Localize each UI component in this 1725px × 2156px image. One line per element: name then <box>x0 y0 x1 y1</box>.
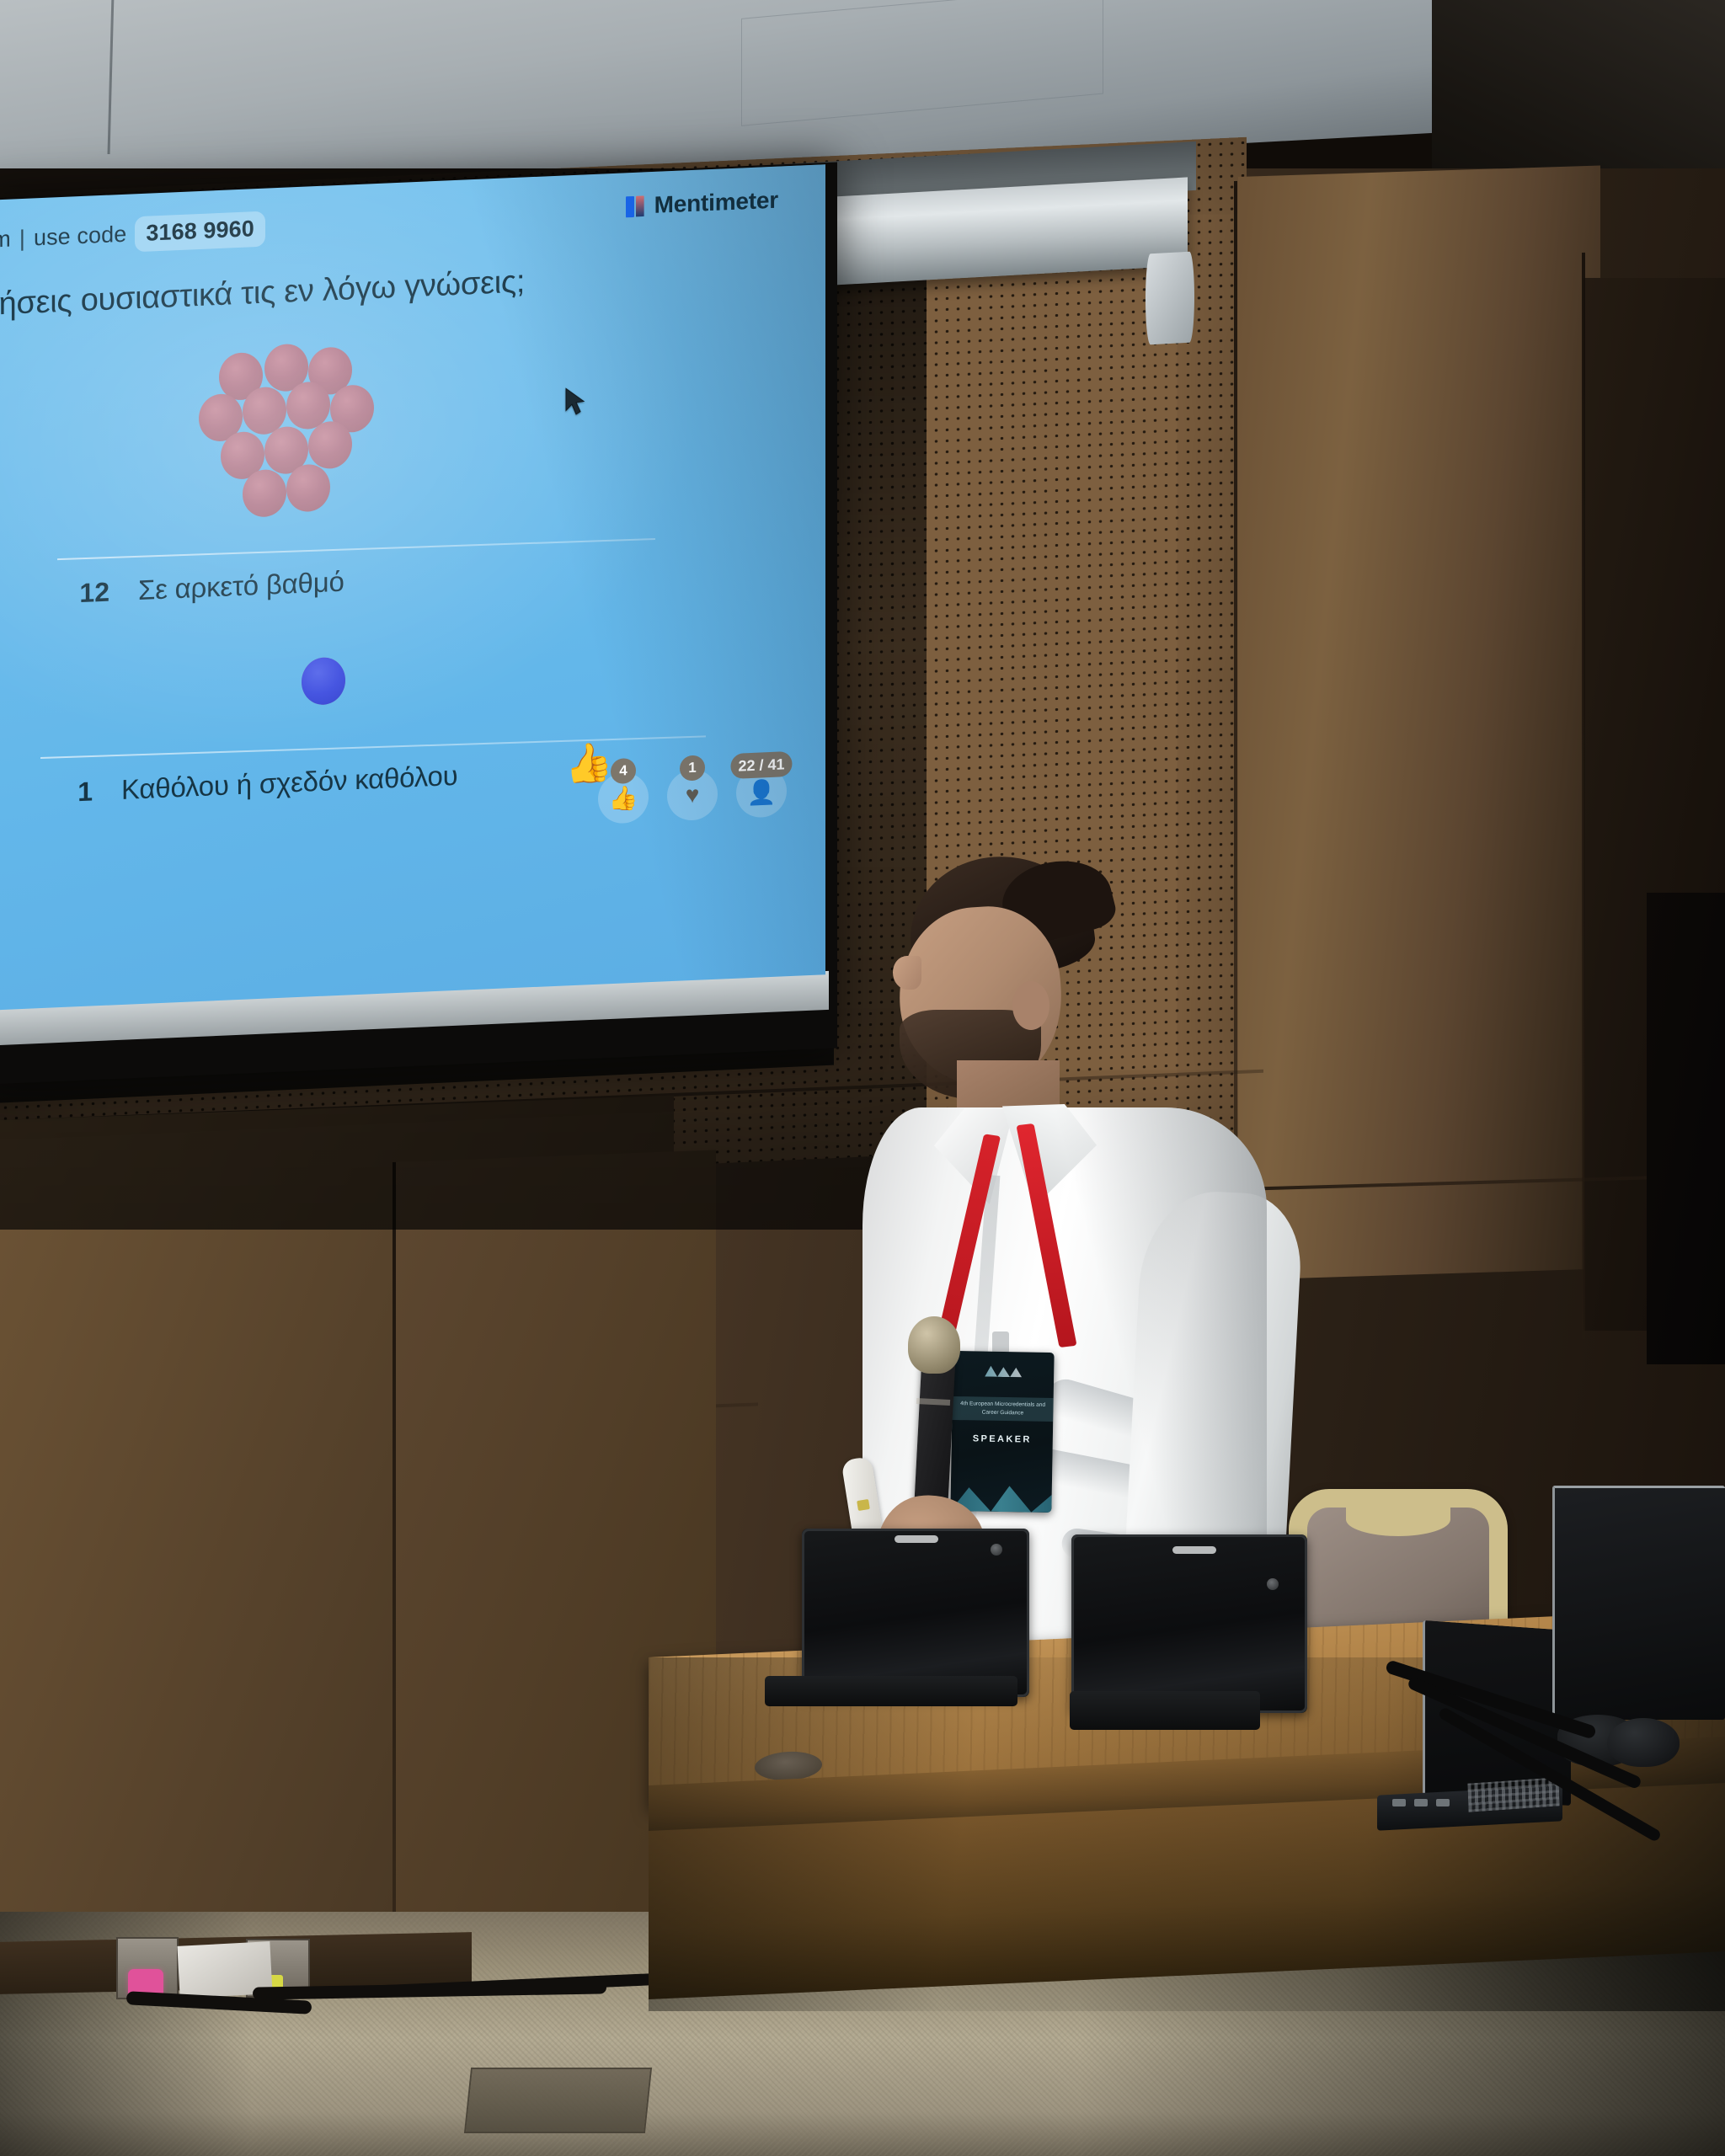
vote-dot <box>286 463 330 512</box>
ceiling-access-panel <box>741 0 1103 126</box>
clicker-indicator <box>857 1499 870 1511</box>
mentimeter-logo: Mentimeter <box>626 187 778 221</box>
tablet-speaker-slot <box>1172 1546 1216 1554</box>
laptop-port <box>1414 1799 1428 1806</box>
speaker-badge: 4th European Microcredentials and Career… <box>950 1351 1054 1513</box>
vote-dot <box>308 420 352 469</box>
join-code: 3168 9960 <box>135 211 265 253</box>
participants-icon: 👤 <box>747 777 777 806</box>
event-logo-icon <box>985 1366 1022 1378</box>
thumbs-up-button[interactable]: 4 👍 <box>598 771 649 825</box>
tablet-right-stand <box>1070 1691 1260 1730</box>
join-separator: | <box>19 226 25 252</box>
thumbs-up-icon: 👍 <box>609 783 638 812</box>
mentimeter-wordmark: Mentimeter <box>654 187 778 219</box>
presenter-nose <box>893 956 921 990</box>
mentimeter-join-bar: enti.com | use code 3168 9960 <box>0 189 682 265</box>
option-vote-count: 1 <box>49 776 93 808</box>
presenter-ear <box>1012 981 1049 1030</box>
wainscot-seam <box>393 1162 396 1971</box>
poll-option-row-2: 1 Καθόλου ή σχεδόν καθόλου <box>49 760 458 809</box>
reaction-bar: 4 👍 1 ♥ 22 / 41 👤 <box>598 766 787 825</box>
option-1-dot-cluster <box>199 346 393 523</box>
doorway-recess <box>1647 893 1725 1364</box>
thumbs-up-count: 4 <box>611 758 636 784</box>
wall-seam-vertical-2 <box>1582 253 1585 1339</box>
tablet-right[interactable] <box>1071 1534 1307 1713</box>
vote-dot-blue-fill <box>302 657 345 706</box>
use-code-label: use code <box>34 221 126 252</box>
screenshot-root: enti.com | use code 3168 9960 Mentimeter… <box>0 0 1725 2156</box>
lanyard-clip <box>992 1331 1009 1353</box>
tablet-left-stand <box>765 1676 1017 1706</box>
poll-option-row-1: 12 Σε αρκετό βαθμό <box>66 566 344 610</box>
option-vote-count: 12 <box>66 577 109 610</box>
tablet-camera-icon <box>1267 1578 1279 1590</box>
floor-access-panel <box>464 2068 652 2133</box>
projector-screen-roller-cap <box>1146 251 1194 344</box>
computer-mouse[interactable] <box>1607 1718 1680 1767</box>
microphone-grille <box>908 1316 960 1374</box>
projection-screen-surface: enti.com | use code 3168 9960 Mentimeter… <box>0 164 825 1011</box>
badge-role-label: SPEAKER <box>973 1433 1032 1444</box>
option-label: Καθόλου ή σχεδόν καθόλου <box>121 760 458 806</box>
badge-event-line: 4th European Microcredentials and Career… <box>952 1396 1053 1422</box>
heart-button[interactable]: 1 ♥ <box>667 769 718 822</box>
tablet-camera-icon <box>991 1544 1002 1556</box>
tablet-left[interactable] <box>802 1529 1029 1697</box>
option-label: Σε αρκετό βαθμό <box>138 566 344 606</box>
participants-indicator[interactable]: 22 / 41 👤 <box>736 766 787 819</box>
participants-count: 22 / 41 <box>730 751 792 779</box>
laptop-port <box>1436 1799 1450 1806</box>
menti-site-url: enti.com <box>0 227 11 256</box>
badge-logo-subtitle <box>1002 1383 1004 1388</box>
mentimeter-m-icon <box>626 195 647 217</box>
vote-dot <box>243 469 286 518</box>
join-instructions: enti.com | use code 3168 9960 <box>0 211 265 261</box>
laptop-port <box>1392 1799 1406 1806</box>
option-divider-1 <box>57 538 655 560</box>
heart-icon: ♥ <box>686 782 700 809</box>
tablet-speaker-slot <box>895 1535 938 1543</box>
monitor-panel <box>1552 1486 1725 1720</box>
heart-count: 1 <box>680 755 705 781</box>
ceiling-seam <box>108 0 115 154</box>
